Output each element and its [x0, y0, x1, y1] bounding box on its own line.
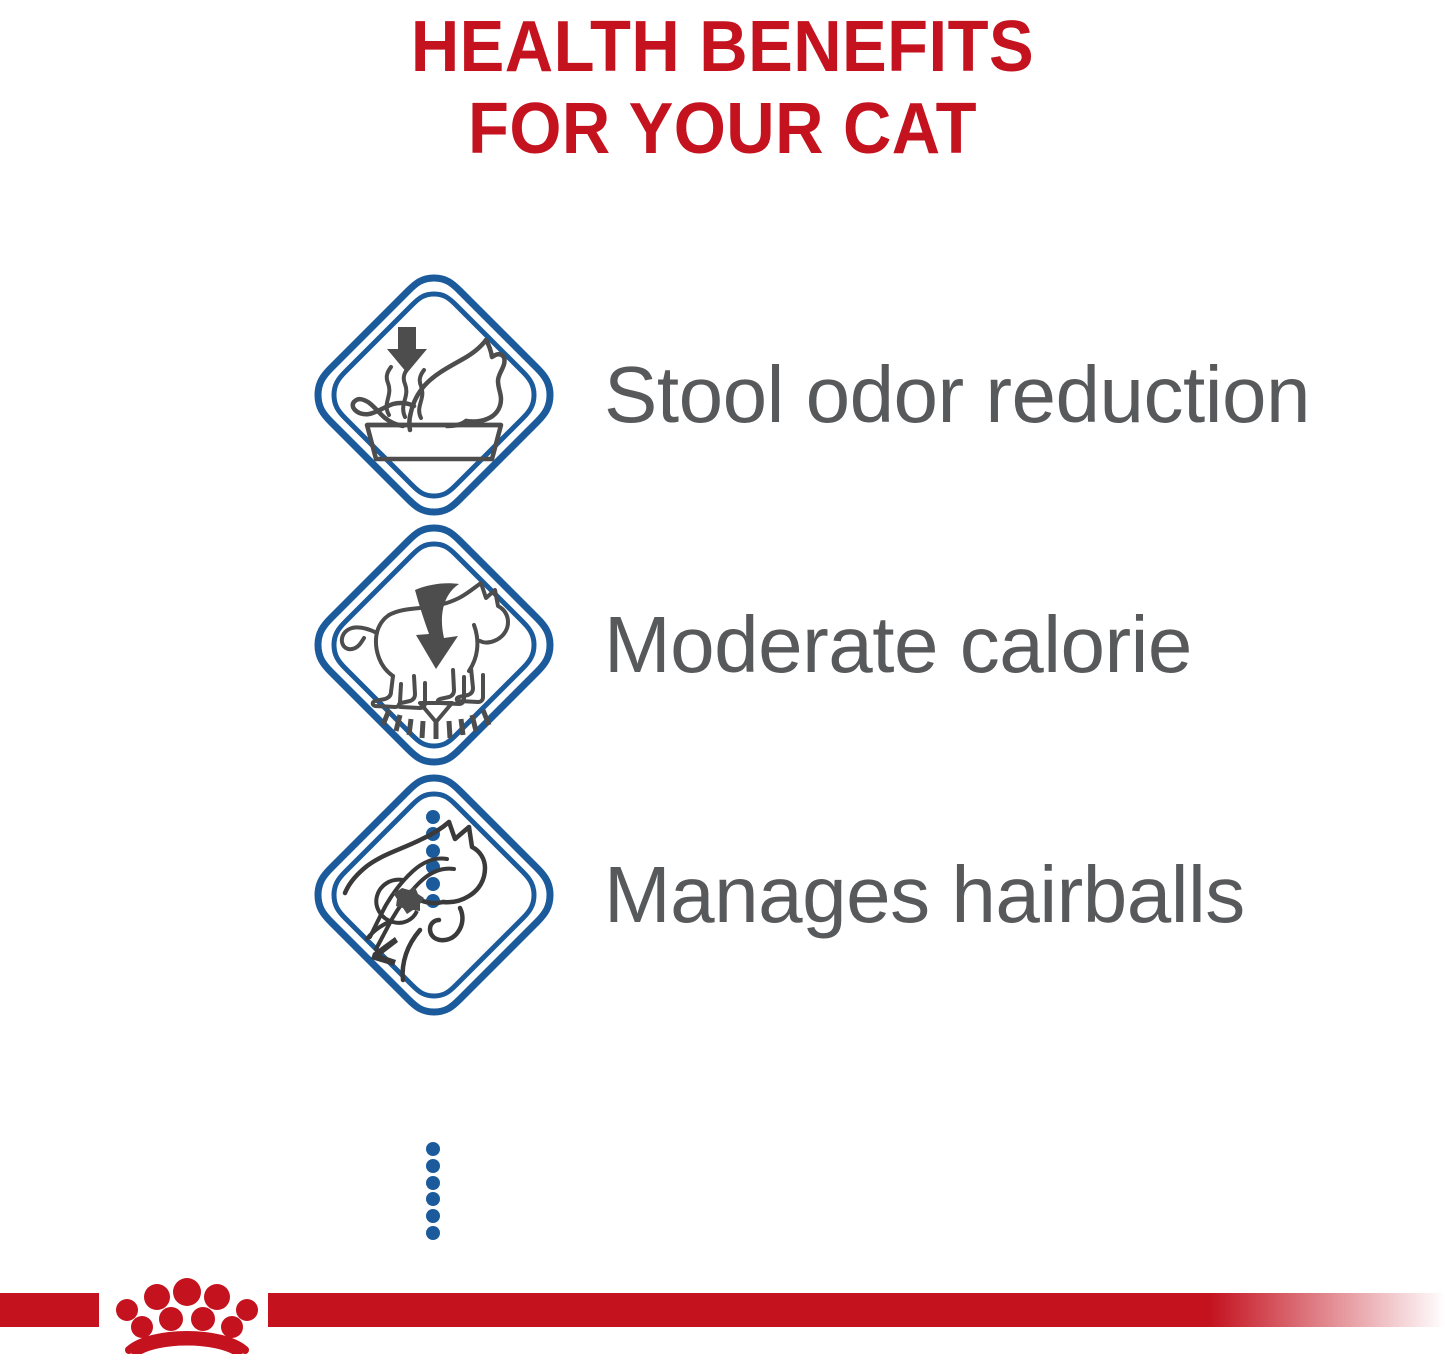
- royal-canin-crown-logo: [99, 1268, 274, 1354]
- connector-dot: [426, 1176, 440, 1190]
- benefit-label: Moderate calorie: [604, 602, 1192, 688]
- footer-bar-right: [268, 1293, 1445, 1327]
- cat-hairball-digestion-icon: [310, 770, 558, 1020]
- benefit-row: Manages hairballs: [0, 770, 1445, 1020]
- connector-dot: [426, 1159, 440, 1173]
- benefit-label: Manages hairballs: [604, 852, 1245, 938]
- connector-dot: [426, 1192, 440, 1206]
- page-title: HEALTH BENEFITS FOR YOUR CAT: [0, 6, 1445, 170]
- footer-band: [0, 1260, 1445, 1363]
- benefit-connector-dots: [424, 1142, 442, 1240]
- page-title-line-1: HEALTH BENEFITS: [51, 6, 1395, 88]
- connector-dot: [426, 1209, 440, 1223]
- benefit-row: Stool odor reduction: [0, 270, 1445, 520]
- page-title-line-2: FOR YOUR CAT: [51, 88, 1395, 170]
- benefits-list: Stool odor reduction: [0, 270, 1445, 1020]
- footer-bar-left: [0, 1293, 99, 1327]
- cat-on-weighing-scale-icon: [310, 520, 558, 770]
- benefit-row: Moderate calorie: [0, 520, 1445, 770]
- connector-dot: [426, 1226, 440, 1240]
- cat-litter-box-odor-icon: [310, 270, 558, 520]
- benefit-label: Stool odor reduction: [604, 352, 1310, 438]
- connector-dot: [426, 1142, 440, 1156]
